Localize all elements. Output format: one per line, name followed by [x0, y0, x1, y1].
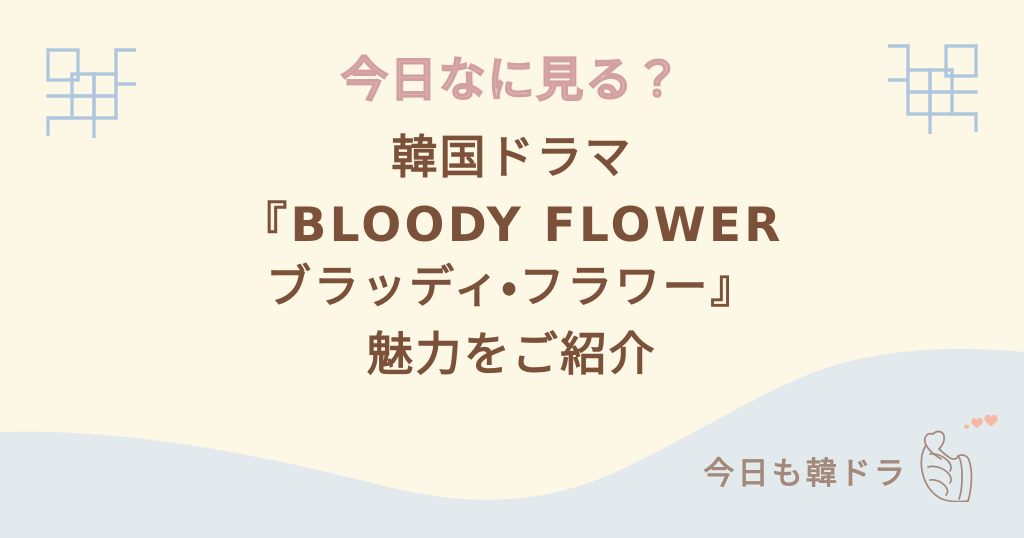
heart-medium-icon	[971, 418, 983, 428]
finger-heart-hand-icon	[912, 410, 998, 502]
heart-large-icon	[984, 415, 997, 427]
thumbnail-canvas: 今日なに見る？ 韓国ドラマ 『BLOODY FLOWER ブラッディ・フラワー』…	[0, 0, 1024, 538]
heart-cluster	[964, 415, 998, 429]
brand-lockup: 今日も韓ドラ	[703, 410, 998, 502]
korean-pattern-left-icon	[44, 46, 136, 138]
brand-name: 今日も韓ドラ	[703, 459, 908, 502]
korean-pattern-right-icon	[888, 42, 980, 134]
heart-small-icon	[964, 425, 969, 430]
